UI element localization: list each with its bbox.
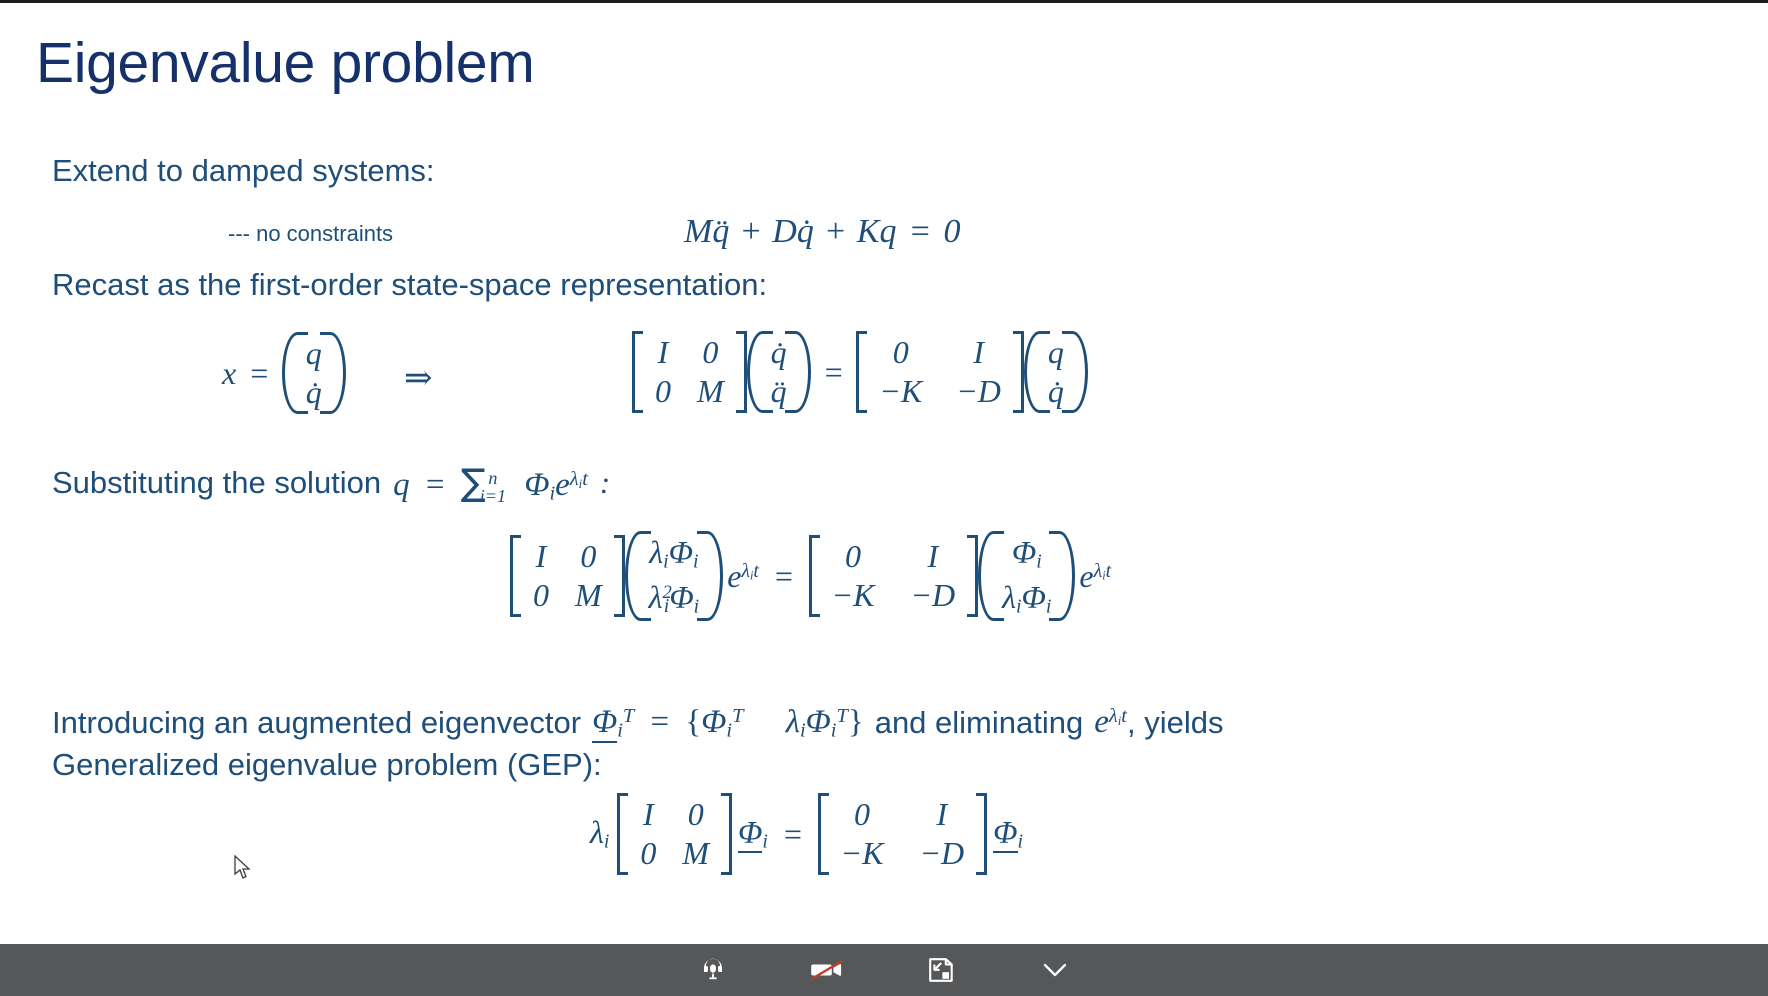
cell-0-8: 0 — [640, 835, 656, 872]
camera-off-icon[interactable] — [801, 949, 853, 991]
paren-right-m1 — [707, 531, 723, 622]
mouse-cursor — [234, 855, 252, 881]
presentation-slide[interactable]: Eigenvalue problem Extend to damped syst… — [0, 0, 1768, 944]
bracket-right-3 — [614, 535, 625, 617]
entry-phi-2: Φi — [1012, 534, 1042, 573]
symbol-K: K — [857, 213, 880, 251]
paren-right-x2 — [1072, 331, 1088, 413]
equation-augmented: ΦiT = {ΦiT λiΦiT} — [581, 703, 864, 743]
sum-limits: n i=1 — [480, 469, 506, 506]
paren-right-m2 — [1059, 531, 1075, 622]
bracket-left-3 — [510, 535, 521, 617]
equation-of-motion: Mq̈ + Dq̇ + Kq = 0 — [684, 213, 960, 251]
symbol-q-1: q — [879, 213, 896, 251]
note-no-constraints: --- no constraints — [228, 221, 393, 247]
cell-0-4: 0 — [580, 538, 596, 575]
exp-factor-lhs: eλit — [723, 558, 759, 595]
cell-I-4: I — [927, 538, 938, 575]
cell-0-7: 0 — [688, 796, 704, 833]
paren-left-m1 — [625, 531, 641, 622]
symbol-lambda-gep: λi — [590, 814, 609, 853]
label-substituting: Substituting the solution — [52, 465, 381, 502]
label-yields: , yields — [1127, 705, 1223, 742]
cell-I-5: I — [643, 796, 654, 833]
cell-minusK-3: −K — [841, 835, 884, 872]
equation-state-vector: x = q q̇ — [222, 336, 346, 410]
symbol-q-sum: q — [393, 467, 410, 503]
cell-0-1: 0 — [702, 334, 718, 371]
entry-lambda2-phi-1: λ2iΦi — [649, 579, 700, 618]
symbol-D: D — [772, 213, 797, 251]
cell-0-9: 0 — [854, 796, 870, 833]
vector-xdot: q̇ q̈ — [747, 331, 811, 413]
symbol-phi-underlined: Φ — [592, 704, 617, 743]
matrix-system-rhs: 0 I −K −D — [856, 331, 1024, 413]
paren-left-x — [282, 332, 298, 414]
entry-lambda-phi-2: λiΦi — [1002, 579, 1051, 618]
equation-solution-sum: q = ∑ n i=1 Φieλit — [381, 461, 588, 506]
line-introducing: Introducing an augmented eigenvector ΦiT… — [52, 703, 1223, 743]
symbol-implies: ⇒ — [404, 358, 433, 398]
vector-x: q q̇ — [282, 332, 346, 414]
sup-lambda-i-t-1: λit — [570, 468, 588, 490]
cell-minusK-2: −K — [832, 577, 875, 614]
brace-left: { — [685, 704, 701, 740]
vector-x2: q q̇ — [1024, 331, 1088, 413]
matrix-entries-2: 0 I −K −D — [867, 331, 1013, 413]
symbol-e-1: e — [555, 467, 570, 503]
sup-lambda-i-t-3: λit — [1094, 560, 1112, 582]
line-extend-damped: Extend to damped systems: — [52, 153, 435, 190]
sum-lower: i=1 — [480, 487, 506, 506]
bracket-left-1 — [632, 331, 643, 413]
line-gep: Generalized eigenvalue problem (GEP): — [52, 747, 602, 784]
bracket-right-1 — [736, 331, 747, 413]
paren-left-x2 — [1024, 331, 1040, 413]
label-and-eliminating: and eliminating — [864, 705, 1084, 742]
aug-entry-1: ΦiT — [701, 704, 743, 740]
label-introducing: Introducing an augmented eigenvector — [52, 705, 581, 742]
bracket-left-4 — [809, 535, 820, 617]
symbol-plus-2: + — [814, 213, 857, 251]
sum-upper: n — [488, 469, 497, 488]
cell-I-6: I — [936, 796, 947, 833]
sup-lambda-i-t-2: λit — [741, 560, 759, 582]
matrix-entries-4: 0 I −K −D — [820, 535, 968, 617]
symbol-plus-1: + — [729, 213, 772, 251]
paren-left-xd — [747, 331, 763, 413]
line-recast: Recast as the first-order state-space re… — [52, 267, 767, 304]
equation-substituted: I 0 0 M λiΦi λ2iΦi eλit = 0 — [510, 533, 1111, 619]
bracket-right-5 — [721, 793, 732, 875]
cell-M-2: M — [575, 577, 602, 614]
symbol-equals-ss: = — [811, 354, 857, 391]
symbol-phi-sum: Φ — [520, 467, 549, 503]
share-screen-icon[interactable] — [915, 949, 967, 991]
cell-M-3: M — [682, 835, 709, 872]
symbol-zero-eom: 0 — [943, 213, 960, 251]
audio-headset-icon[interactable] — [687, 949, 739, 991]
matrix-entries-1: I 0 0 M — [643, 331, 736, 413]
bracket-left-5 — [617, 793, 628, 875]
line-substituting: Substituting the solution q = ∑ n i=1 Φi… — [52, 461, 610, 506]
cell-M-1: M — [697, 373, 724, 410]
brace-right: } — [848, 704, 864, 740]
matrix-mass-3: I 0 0 M — [617, 793, 732, 875]
exp-factor-rhs: eλit — [1075, 558, 1111, 595]
matrix-entries-3: I 0 0 M — [521, 535, 614, 617]
vector-modal-rhs: Φi λiΦi — [978, 531, 1075, 622]
symbol-equals-gep: = — [768, 816, 818, 853]
eigenvector-rhs: Φi — [993, 814, 1023, 853]
cell-0-6: 0 — [845, 538, 861, 575]
cell-minusD-2: −D — [910, 577, 955, 614]
cell-0-3: 0 — [893, 334, 909, 371]
bracket-right-6 — [976, 793, 987, 875]
cell-minusD-3: −D — [919, 835, 964, 872]
cell-I-1: I — [658, 334, 669, 371]
cell-I-3: I — [536, 538, 547, 575]
sup-T-aug: T — [623, 705, 634, 727]
bracket-left-6 — [818, 793, 829, 875]
symbol-M: M — [684, 213, 712, 251]
symbol-equals-sub: = — [759, 558, 809, 595]
vector-modal-lhs: λiΦi λ2iΦi — [625, 531, 724, 622]
sup-lambda-i-t-4: λit — [1109, 705, 1127, 727]
paren-right-x — [330, 332, 346, 414]
equation-gep: λi I 0 0 M Φi = 0 I −K −D — [590, 795, 1023, 873]
cell-minusK-1: −K — [879, 373, 922, 410]
symbol-equals-x: = — [236, 355, 282, 392]
equation-state-space: I 0 0 M q̇ q̈ = 0 I — [632, 333, 1088, 411]
symbol-qdot-1: q̇ — [797, 213, 814, 251]
symbol-colon-1: : — [588, 465, 610, 502]
matrix-mass-lhs: I 0 0 M — [632, 331, 747, 413]
matrix-entries-5: I 0 0 M — [628, 793, 721, 875]
bracket-right-4 — [967, 535, 978, 617]
matrix-system-3: 0 I −K −D — [818, 793, 988, 875]
aug-entry-2: λiΦiT — [786, 704, 848, 740]
symbol-equals-sum: = — [418, 467, 453, 503]
cell-0-2: 0 — [655, 373, 671, 410]
eigenvector-lhs: Φi — [738, 814, 768, 853]
matrix-entries-6: 0 I −K −D — [829, 793, 977, 875]
matrix-mass-2: I 0 0 M — [510, 535, 625, 617]
matrix-system-2: 0 I −K −D — [809, 535, 979, 617]
paren-right-xd — [795, 331, 811, 413]
bracket-right-2 — [1013, 331, 1024, 413]
bracket-left-2 — [856, 331, 867, 413]
paren-left-m2 — [978, 531, 994, 622]
cell-I-2: I — [973, 334, 984, 371]
chevron-down-icon[interactable] — [1029, 949, 1081, 991]
meeting-toolbar — [0, 944, 1768, 996]
entry-lambda-phi-1: λiΦi — [649, 534, 698, 573]
symbol-equals-1: = — [896, 213, 943, 251]
symbol-qddot: q̈ — [712, 213, 729, 251]
cell-minusD-1: −D — [956, 373, 1001, 410]
page-title: Eigenvalue problem — [36, 33, 534, 95]
screen-share-window: Eigenvalue problem Extend to damped syst… — [0, 0, 1768, 996]
cell-0-5: 0 — [533, 577, 549, 614]
equation-exp-term: eλit — [1083, 703, 1127, 742]
symbol-x: x — [222, 355, 236, 392]
symbol-equals-aug: = — [643, 704, 678, 740]
